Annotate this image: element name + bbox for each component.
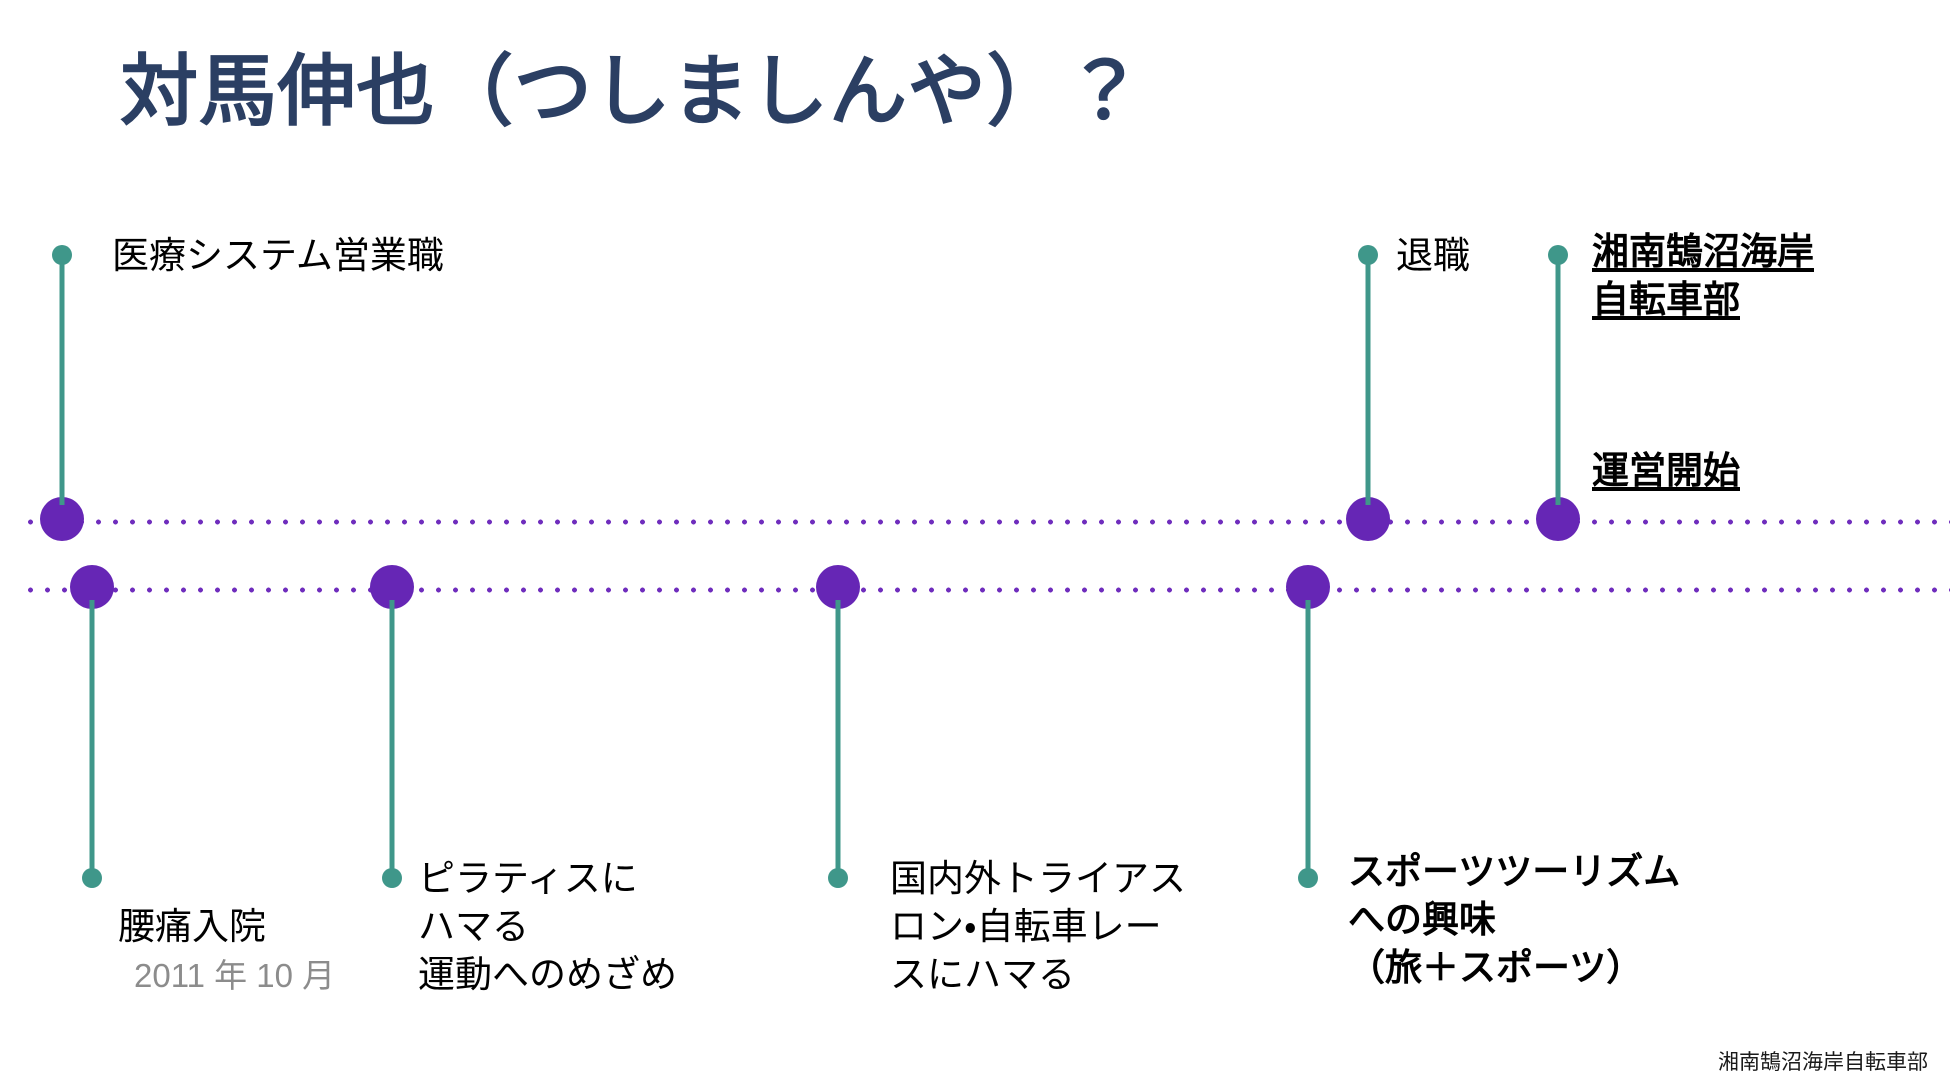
slide-footer: 湘南鵠沼海岸自転車部 <box>1718 1046 1928 1076</box>
timeline-rail-upper <box>22 519 1950 525</box>
timeline-stem-medical-sales <box>60 255 65 505</box>
timeline-label-back-pain-date: 2011 年 10 月 <box>118 955 335 998</box>
timeline-stem-pilates <box>390 600 395 878</box>
timeline-stem-retire <box>1366 255 1371 505</box>
timeline-label-back-pain: 腰痛入院 2011 年 10 月 <box>118 855 335 1046</box>
timeline-tip-pilates <box>382 868 402 888</box>
timeline-stem-back-pain <box>90 600 95 878</box>
timeline-label-medical-sales: 医療システム営業職 <box>112 232 444 280</box>
timeline-stem-triathlon <box>836 600 841 878</box>
timeline-label-triathlon: 国内外トライアス ロン・自転車レー スにハマる <box>890 855 1186 999</box>
timeline-label-pilates: ピラティスに ハマる 運動へのめざめ <box>418 855 677 999</box>
timeline-rail-lower <box>22 587 1950 593</box>
timeline-label-retire: 退職 <box>1396 232 1470 280</box>
timeline-tip-back-pain <box>82 868 102 888</box>
timeline-stem-club-founded <box>1556 255 1561 505</box>
page-title: 対馬伸也（つしましんや）？ <box>120 48 1144 135</box>
timeline-tip-medical-sales <box>52 245 72 265</box>
timeline-tip-club-founded <box>1548 245 1568 265</box>
timeline-tip-triathlon <box>828 868 848 888</box>
slide-canvas: 対馬伸也（つしましんや）？ 医療システム営業職 退職 湘南鵠沼海岸 自転車部 運… <box>0 0 1950 1090</box>
timeline-tip-sports-tourism <box>1298 868 1318 888</box>
timeline-label-back-pain-text: 腰痛入院 <box>118 906 266 947</box>
timeline-tip-retire <box>1358 245 1378 265</box>
timeline-label-sports-tourism: スポーツツーリズム への興味 （旅＋スポーツ） <box>1348 848 1680 992</box>
timeline-label-club-founded: 湘南鵠沼海岸 自転車部 <box>1592 228 1814 324</box>
timeline-stem-sports-tourism <box>1306 600 1311 878</box>
timeline-label-operation-start: 運営開始 <box>1592 447 1740 495</box>
